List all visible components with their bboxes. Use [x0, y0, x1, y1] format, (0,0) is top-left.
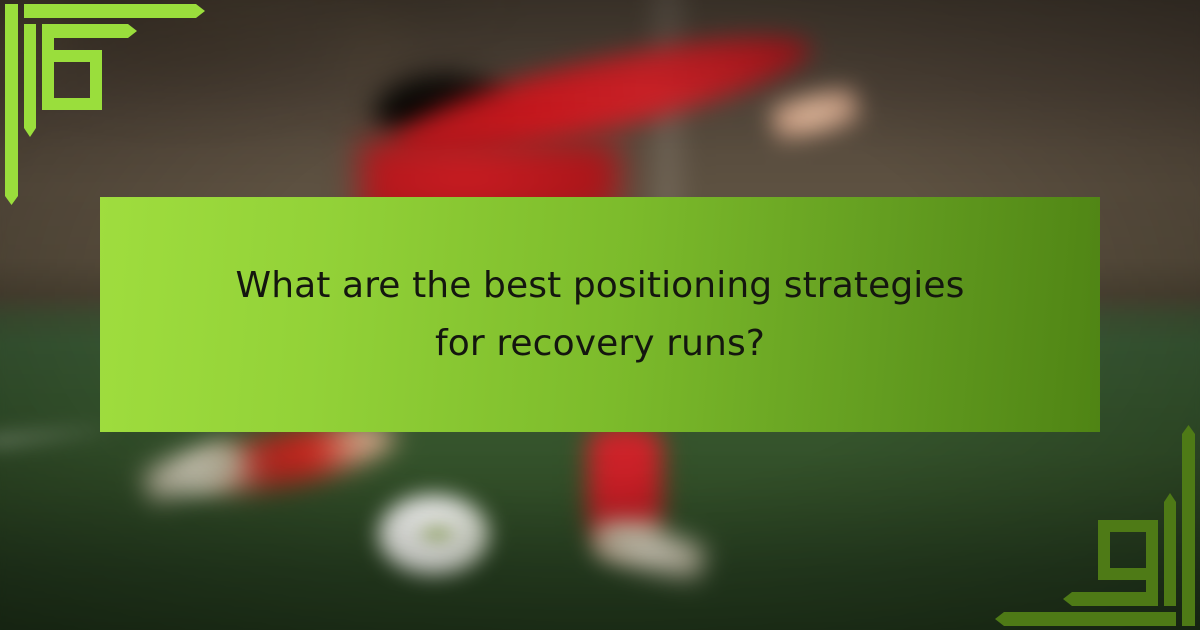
corner-ornament-top-left-icon [0, 0, 210, 210]
headline-title: What are the best positioning strategies… [205, 257, 995, 373]
corner-ornament-top-left [0, 0, 210, 210]
corner-ornament-bottom-right [990, 420, 1200, 630]
headline-card: What are the best positioning strategies… [100, 197, 1100, 432]
social-share-card: What are the best positioning strategies… [0, 0, 1200, 630]
corner-ornament-bottom-right-icon [990, 420, 1200, 630]
